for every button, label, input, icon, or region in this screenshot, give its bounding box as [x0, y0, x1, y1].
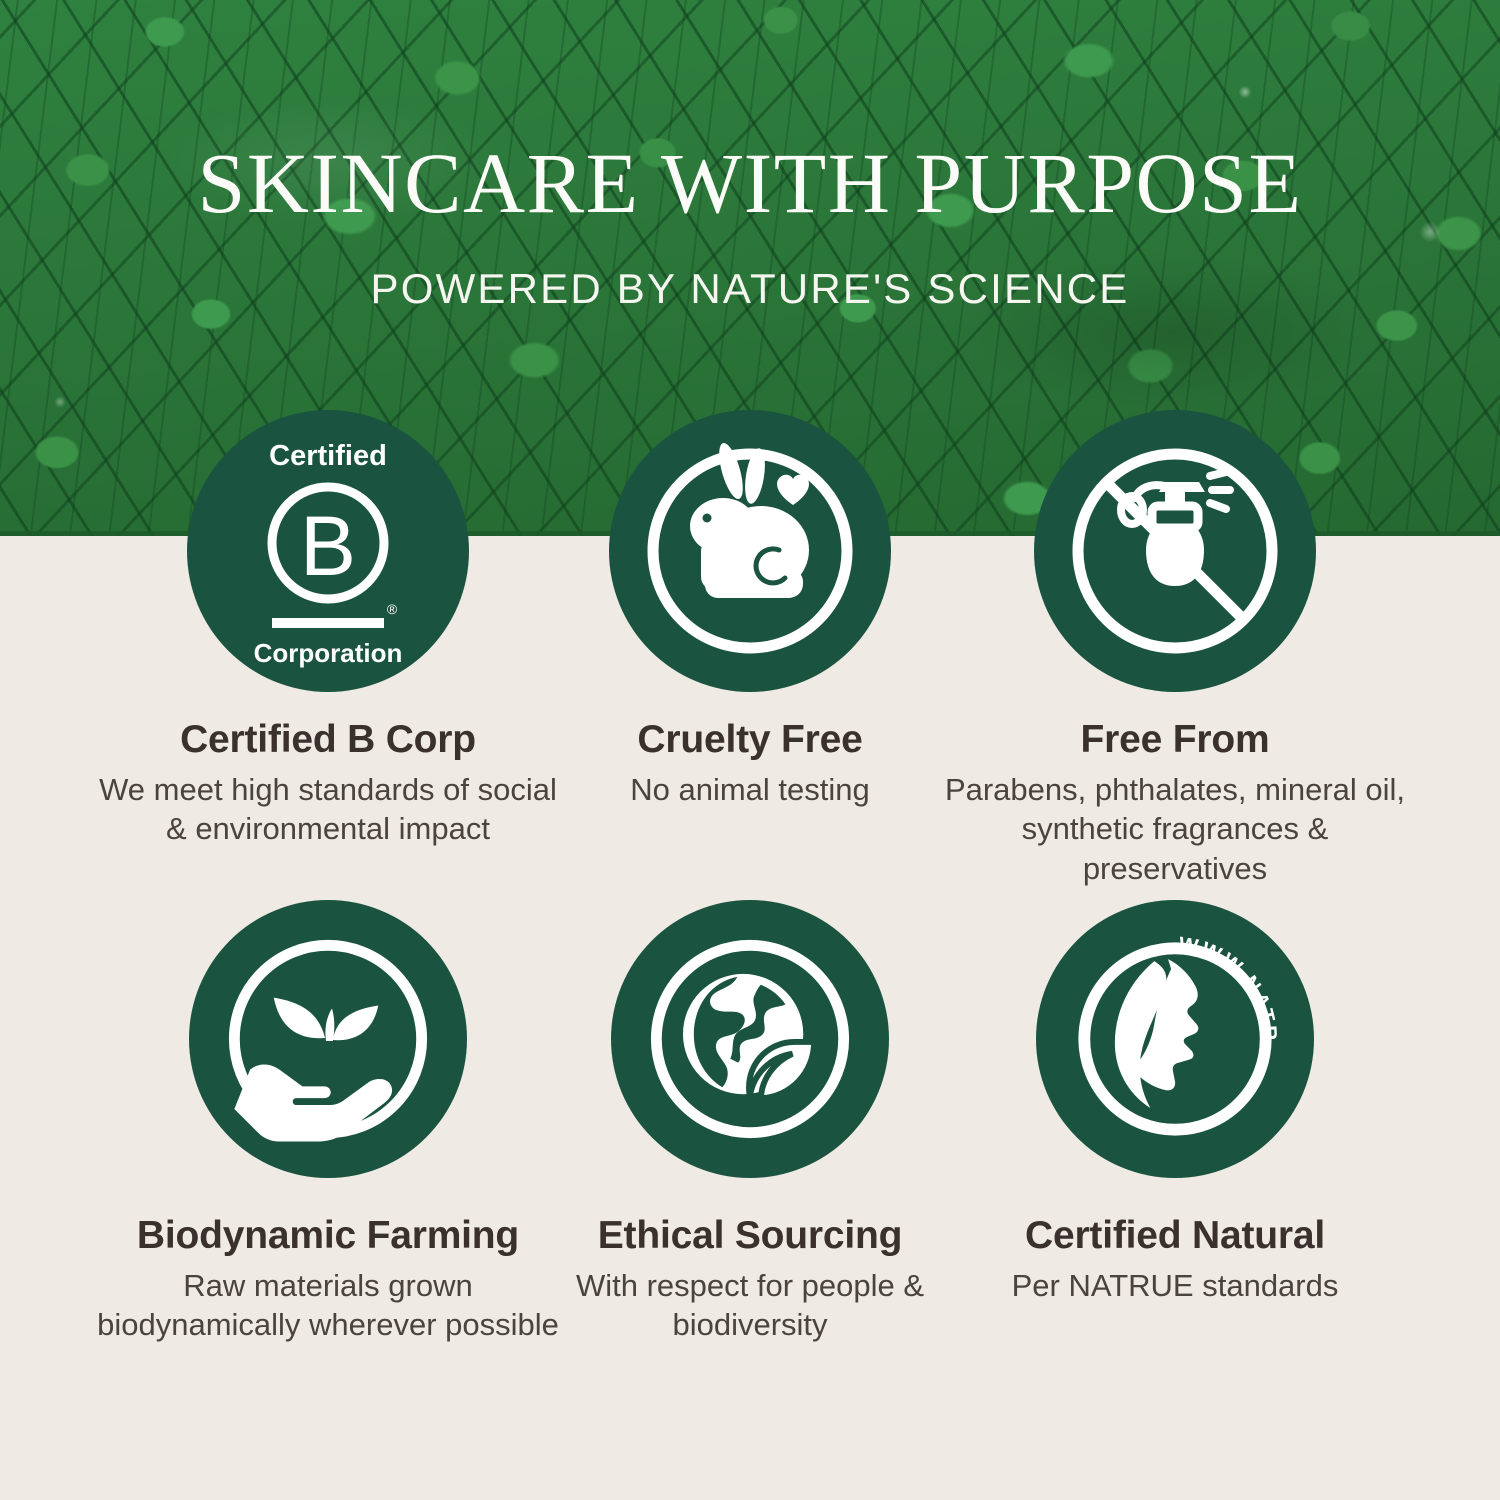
globe-leaf-icon [611, 900, 889, 1178]
b-corp-top-text: Certified [269, 440, 387, 472]
b-corp-registered-mark: ® [387, 601, 398, 617]
badge-item-free-from: Free From Parabens, phthalates, mineral … [935, 410, 1415, 889]
spray-bottle-glyph [1121, 472, 1230, 586]
no-spray-bottle-icon [1034, 410, 1316, 692]
hand-seedling-icon [189, 900, 467, 1178]
badge-label: Cruelty Free [510, 718, 990, 762]
natrue-face-leaf-glyph [1115, 959, 1198, 1108]
badge-label: Ethical Sourcing [510, 1214, 990, 1258]
badge-label: Free From [935, 718, 1415, 762]
badge-description: Per NATRUE standards [935, 1266, 1415, 1306]
badge-item-certified-natural: WWW.NATRUE.ORG Certified Natural Per NAT… [935, 900, 1415, 1305]
natrue-seal-icon: WWW.NATRUE.ORG [1036, 900, 1314, 1178]
b-corp-letter: B [300, 499, 356, 593]
badge-description: Raw materials grown biodynamically where… [88, 1266, 568, 1345]
b-corp-certified-icon: Certified B ® Corporation [187, 410, 469, 692]
badge-label: Certified B Corp [88, 718, 568, 762]
badge-label: Biodynamic Farming [88, 1214, 568, 1258]
badge-description: With respect for people & biodiversity [510, 1266, 990, 1345]
badge-item-ethical-sourcing: Ethical Sourcing With respect for people… [510, 900, 990, 1345]
badge-item-biodynamic-farming: Biodynamic Farming Raw materials grown b… [88, 900, 568, 1345]
rabbit-heart-icon [609, 410, 891, 692]
badge-item-cruelty-free: Cruelty Free No animal testing [510, 410, 990, 809]
badge-description: Parabens, phthalates, mineral oil, synth… [935, 770, 1415, 889]
badge-description: We meet high standards of social & envir… [88, 770, 568, 849]
badge-grid: Certified B ® Corporation Certified B Co… [0, 0, 1500, 1500]
b-corp-bottom-text: Corporation [254, 638, 403, 668]
marketing-infographic: SKINCARE WITH PURPOSE POWERED BY NATURE'… [0, 0, 1500, 1500]
badge-item-certified-b-corp: Certified B ® Corporation Certified B Co… [88, 410, 568, 849]
globe-glyph [683, 973, 814, 1098]
badge-description: No animal testing [510, 770, 990, 810]
badge-label: Certified Natural [935, 1214, 1415, 1258]
